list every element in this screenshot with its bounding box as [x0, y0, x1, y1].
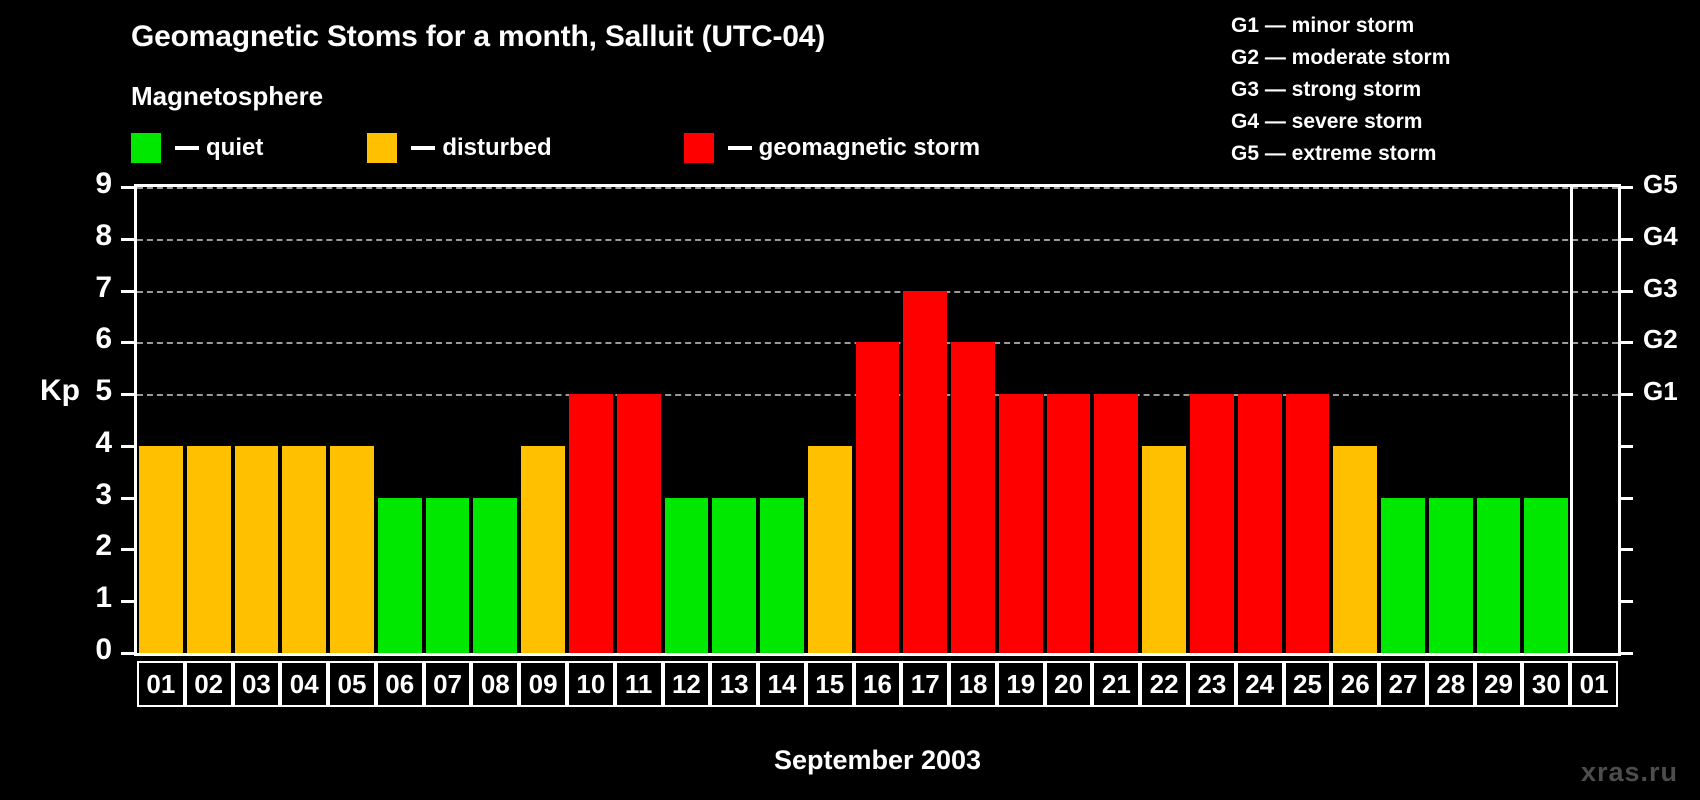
bar-day-03 — [235, 446, 279, 653]
y-tick-label-4: 4 — [72, 426, 112, 460]
y-tick-1 — [121, 600, 135, 603]
g-axis-tick-kp-5 — [1619, 393, 1633, 396]
chart-inner — [137, 187, 1618, 653]
x-axis-day-24: 24 — [1236, 661, 1284, 707]
g-scale-line-4: G4 — severe storm — [1231, 106, 1450, 138]
y-tick-label-0: 0 — [72, 633, 112, 667]
x-axis-day-17: 17 — [901, 661, 949, 707]
g-axis-label-G2: G2 — [1643, 324, 1678, 355]
bar-day-08 — [473, 498, 517, 653]
x-axis-day-06: 06 — [376, 661, 424, 707]
bar-day-07 — [426, 498, 470, 653]
g-axis-tick-kp-8 — [1619, 238, 1633, 241]
g-scale-line-3: G3 — strong storm — [1231, 74, 1450, 106]
y-tick-label-7: 7 — [72, 271, 112, 305]
y-tick-5 — [121, 393, 135, 396]
legend: quietdisturbedgeomagnetic storm — [131, 132, 980, 164]
g-axis-label-G3: G3 — [1643, 273, 1678, 304]
x-axis-day-27: 27 — [1379, 661, 1427, 707]
g-axis-label-G5: G5 — [1643, 169, 1678, 200]
y-tick-label-3: 3 — [72, 478, 112, 512]
bar-day-23 — [1190, 394, 1234, 653]
bar-day-18 — [951, 342, 995, 653]
y-tick-2 — [121, 548, 135, 551]
bar-day-01 — [139, 446, 183, 653]
x-axis-day-04: 04 — [280, 661, 328, 707]
y-tick-3 — [121, 497, 135, 500]
x-axis-day-01: 01 — [137, 661, 185, 707]
bar-day-13 — [712, 498, 756, 653]
g-axis-label-G4: G4 — [1643, 221, 1678, 252]
y-tick-7 — [121, 290, 135, 293]
legend-item-disturbed: disturbed — [367, 133, 551, 163]
g-axis-tick-kp-1 — [1619, 600, 1633, 603]
chart-plot-area — [134, 184, 1621, 656]
x-axis-day-03: 03 — [233, 661, 281, 707]
x-axis-day-13: 13 — [710, 661, 758, 707]
x-axis-day-21: 21 — [1092, 661, 1140, 707]
x-axis-day-labels: 0102030405060708091011121314151617181920… — [134, 661, 1621, 707]
x-axis-day-16: 16 — [854, 661, 902, 707]
bar-day-12 — [665, 498, 709, 653]
g-axis-tick-kp-2 — [1619, 548, 1633, 551]
g-scale-legend: G1 — minor stormG2 — moderate stormG3 — … — [1231, 10, 1450, 170]
x-axis-day-07: 07 — [424, 661, 472, 707]
page-title: Geomagnetic Stoms for a month, Salluit (… — [131, 20, 825, 54]
bar-day-22 — [1142, 446, 1186, 653]
y-tick-8 — [121, 238, 135, 241]
x-axis-day-05: 05 — [328, 661, 376, 707]
x-axis-title: September 2003 — [134, 745, 1621, 776]
x-axis-day-26: 26 — [1331, 661, 1379, 707]
x-axis-day-28: 28 — [1427, 661, 1475, 707]
watermark: xras.ru — [1581, 757, 1678, 788]
g-axis-tick-kp-9 — [1619, 186, 1633, 189]
x-axis-day-09: 09 — [519, 661, 567, 707]
legend-label: disturbed — [442, 134, 551, 162]
g-scale-line-2: G2 — moderate storm — [1231, 42, 1450, 74]
bar-day-19 — [999, 394, 1043, 653]
legend-dash-icon — [175, 146, 199, 150]
legend-swatch-disturbed-icon — [367, 133, 397, 163]
bar-day-26 — [1333, 446, 1377, 653]
bar-day-06 — [378, 498, 422, 653]
g-axis-tick-kp-0 — [1619, 652, 1633, 655]
y-tick-label-2: 2 — [72, 529, 112, 563]
legend-label: geomagnetic storm — [759, 134, 980, 162]
bar-day-16 — [856, 342, 900, 653]
y-tick-4 — [121, 445, 135, 448]
g-scale-line-5: G5 — extreme storm — [1231, 138, 1450, 170]
legend-item-quiet: quiet — [131, 133, 263, 163]
legend-item-geomagnetic-storm: geomagnetic storm — [684, 133, 980, 163]
g-axis-tick-kp-4 — [1619, 445, 1633, 448]
g-axis-tick-kp-6 — [1619, 341, 1633, 344]
bar-day-17 — [903, 291, 947, 653]
bar-day-27 — [1381, 498, 1425, 653]
bar-day-29 — [1477, 498, 1521, 653]
y-tick-9 — [121, 186, 135, 189]
bar-day-20 — [1047, 394, 1091, 653]
g-axis-tick-kp-7 — [1619, 290, 1633, 293]
legend-dash-icon — [728, 146, 752, 150]
bar-day-28 — [1429, 498, 1473, 653]
g-scale-line-1: G1 — minor storm — [1231, 10, 1450, 42]
x-axis-day-22: 22 — [1140, 661, 1188, 707]
x-axis-day-29: 29 — [1475, 661, 1523, 707]
x-axis-day-12: 12 — [663, 661, 711, 707]
y-tick-0 — [121, 652, 135, 655]
bar-day-24 — [1238, 394, 1282, 653]
x-axis-day-25: 25 — [1284, 661, 1332, 707]
bar-day-10 — [569, 394, 613, 653]
x-axis-day-19: 19 — [997, 661, 1045, 707]
legend-swatch-geomagnetic-storm-icon — [684, 133, 714, 163]
magnetosphere-heading: Magnetosphere — [131, 81, 323, 112]
x-axis-day-23: 23 — [1188, 661, 1236, 707]
y-tick-label-5: 5 — [72, 374, 112, 408]
legend-dash-icon — [411, 146, 435, 150]
bar-day-21 — [1094, 394, 1138, 653]
x-axis-day-14: 14 — [758, 661, 806, 707]
y-tick-label-8: 8 — [72, 219, 112, 253]
bar-day-04 — [282, 446, 326, 653]
bar-day-05 — [330, 446, 374, 653]
x-axis-day-20: 20 — [1045, 661, 1093, 707]
bar-day-25 — [1286, 394, 1330, 653]
bar-day-14 — [760, 498, 804, 653]
x-axis-day-02: 02 — [185, 661, 233, 707]
y-tick-6 — [121, 341, 135, 344]
bar-series — [137, 187, 1618, 653]
legend-label: quiet — [206, 134, 263, 162]
legend-swatch-quiet-icon — [131, 133, 161, 163]
y-tick-label-1: 1 — [72, 581, 112, 615]
y-tick-label-9: 9 — [72, 167, 112, 201]
bar-day-09 — [521, 446, 565, 653]
g-axis-tick-kp-3 — [1619, 497, 1633, 500]
x-axis-day-01-next-month: 01 — [1570, 661, 1618, 707]
bar-day-30 — [1524, 498, 1568, 653]
x-axis-day-18: 18 — [949, 661, 997, 707]
x-axis-day-08: 08 — [471, 661, 519, 707]
y-tick-label-6: 6 — [72, 322, 112, 356]
x-axis-day-10: 10 — [567, 661, 615, 707]
bar-day-15 — [808, 446, 852, 653]
x-axis-day-30: 30 — [1522, 661, 1570, 707]
g-axis-label-G1: G1 — [1643, 376, 1678, 407]
bar-day-02 — [187, 446, 231, 653]
bar-day-11 — [617, 394, 661, 653]
x-axis-day-15: 15 — [806, 661, 854, 707]
month-end-divider — [1570, 187, 1573, 653]
x-axis-day-11: 11 — [615, 661, 663, 707]
